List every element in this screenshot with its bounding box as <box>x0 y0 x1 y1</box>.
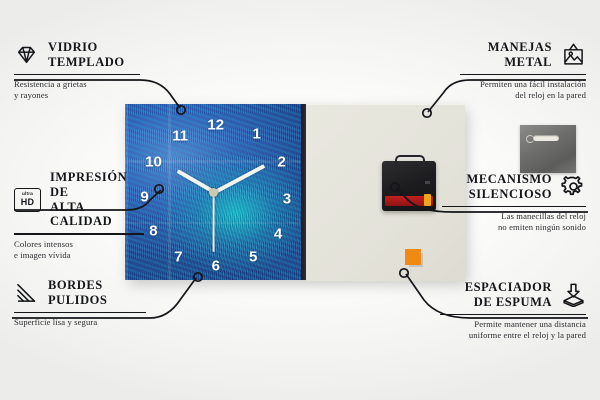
feature-divider <box>14 233 144 235</box>
clock-minute-hand <box>213 164 264 193</box>
feature-description: Superficie lisa y segura <box>14 317 146 328</box>
clock-numeral-2: 2 <box>277 155 285 170</box>
infographic-canvas: 12 1 2 3 4 5 6 7 8 9 10 11 <box>0 0 600 400</box>
feature-description: Permiten una fácil instalación del reloj… <box>460 79 586 102</box>
clock-face: 12 1 2 3 4 5 6 7 8 9 10 11 <box>125 104 303 280</box>
clock-numeral-7: 7 <box>174 250 182 265</box>
clock-numeral-10: 10 <box>145 155 162 170</box>
ultra-hd-icon: ultra HD <box>14 188 41 212</box>
clock-second-hand <box>213 192 215 252</box>
feature-heading: MECANISMO SILENCIOSO <box>442 172 586 202</box>
feature-heading: MANEJAS METAL <box>460 40 586 70</box>
feature-heading: ESPACIADOR DE ESPUMA <box>440 280 586 310</box>
clock-numeral-3: 3 <box>283 192 291 207</box>
clock-hour-hand <box>177 169 215 193</box>
feature-mecanismo-silencioso[interactable]: MECANISMO SILENCIOSO Las manecillas del … <box>442 172 586 234</box>
foam-spacer-part <box>405 249 421 265</box>
feature-title: MECANISMO SILENCIOSO <box>466 172 552 202</box>
clock-numeral-4: 4 <box>274 227 282 242</box>
polished-edge-icon <box>14 280 39 305</box>
movement-hook <box>395 155 425 165</box>
clock-numeral-12: 12 <box>207 118 224 133</box>
clock-numeral-5: 5 <box>249 250 257 265</box>
feature-espaciador-espuma[interactable]: ESPACIADOR DE ESPUMA Permite mantener un… <box>440 280 586 342</box>
feature-heading: BORDES PULIDOS <box>14 278 146 308</box>
feature-title: BORDES PULIDOS <box>48 278 107 308</box>
clock-center-cap <box>209 188 218 197</box>
diamond-icon <box>14 42 39 67</box>
feature-impresion-alta-calidad[interactable]: ultra HD IMPRESIÓN DE ALTA CALIDAD Color… <box>14 170 144 261</box>
feature-description: Las manecillas del reloj no emiten ningú… <box>442 211 586 234</box>
hanger-keyhole <box>533 135 559 141</box>
clock-numeral-8: 8 <box>149 223 157 238</box>
feature-title: VIDRIO TEMPLADO <box>48 40 125 70</box>
feature-divider <box>442 206 586 208</box>
feature-divider <box>460 74 586 76</box>
battery-label <box>385 196 433 206</box>
feature-description: Permite mantener una distancia uniforme … <box>440 319 586 342</box>
feature-heading: VIDRIO TEMPLADO <box>14 40 140 70</box>
feature-divider <box>14 312 146 314</box>
feature-title: ESPACIADOR DE ESPUMA <box>465 280 552 310</box>
feature-heading: ultra HD IMPRESIÓN DE ALTA CALIDAD <box>14 170 144 229</box>
feature-bordes-pulidos[interactable]: BORDES PULIDOS Superficie lisa y segura <box>14 278 146 328</box>
arrow-onto-layer-icon <box>561 282 586 307</box>
feature-description: Colores intensos e imagen vívida <box>14 239 144 262</box>
feature-divider <box>440 314 586 316</box>
feature-title: MANEJAS METAL <box>488 40 552 70</box>
clock-numeral-11: 11 <box>172 128 188 143</box>
feature-title: IMPRESIÓN DE ALTA CALIDAD <box>50 170 144 229</box>
clock-numeral-1: 1 <box>253 126 261 141</box>
feature-description: Resistencia a grietas y rayones <box>14 79 140 102</box>
product-image: 12 1 2 3 4 5 6 7 8 9 10 11 <box>125 104 465 280</box>
hanging-frame-icon <box>561 42 586 67</box>
feature-divider <box>14 74 140 76</box>
metal-hanger-part <box>520 125 576 173</box>
feature-vidrio-templado[interactable]: VIDRIO TEMPLADO Resistencia a grietas y … <box>14 40 140 102</box>
quartz-movement-part <box>382 161 436 211</box>
gear-icon <box>561 174 586 199</box>
feature-manejas-metal[interactable]: MANEJAS METAL Permiten una fácil instala… <box>460 40 586 102</box>
movement-detail <box>425 181 430 184</box>
clock-numeral-6: 6 <box>212 258 220 273</box>
